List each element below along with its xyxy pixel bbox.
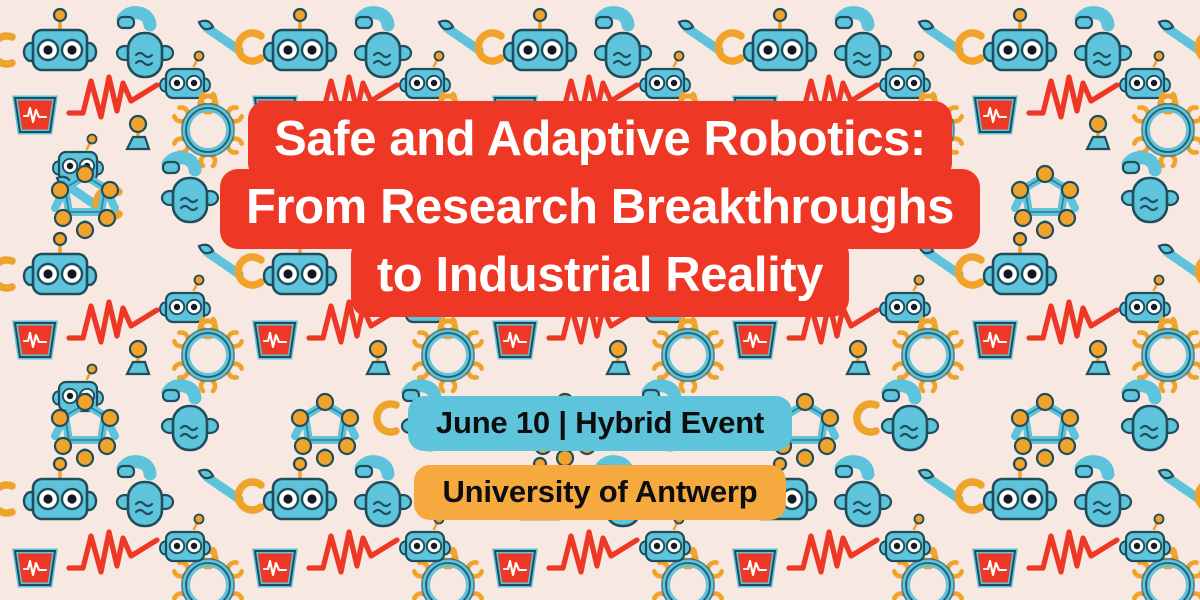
- venue-badge: University of Antwerp: [414, 465, 785, 520]
- event-banner: Safe and Adaptive Robotics: From Researc…: [0, 0, 1200, 600]
- date-badge: June 10 | Hybrid Event: [408, 396, 792, 451]
- title-line-3: to Industrial Reality: [351, 237, 849, 317]
- event-title: Safe and Adaptive Robotics: From Researc…: [0, 101, 1200, 317]
- event-details: June 10 | Hybrid Event University of Ant…: [0, 396, 1200, 520]
- banner-content: Safe and Adaptive Robotics: From Researc…: [0, 0, 1200, 600]
